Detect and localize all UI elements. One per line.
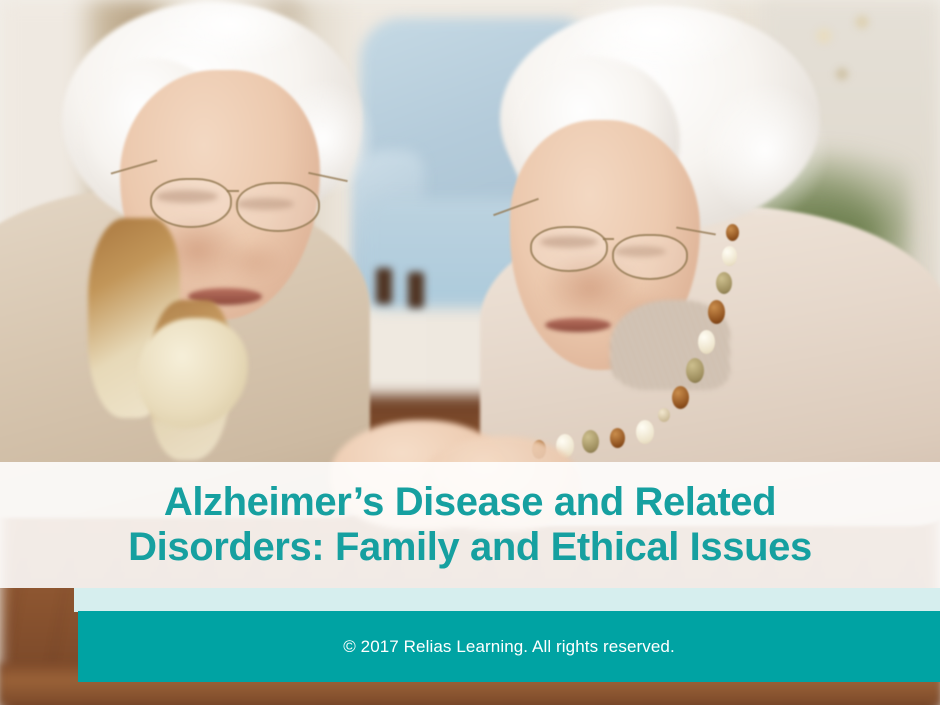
title-slide: Alzheimer’s Disease and Related Disorder… [0, 0, 940, 705]
cyan-accent-strip [74, 588, 940, 612]
necklace-bead [610, 428, 625, 448]
right-woman-glasses-lens [612, 234, 688, 280]
right-woman-glasses-bridge [603, 238, 614, 240]
necklace-bead [658, 408, 670, 422]
necklace-bead [582, 430, 599, 453]
page-title-line-2: Disorders: Family and Ethical Issues [128, 525, 812, 570]
title-band: Alzheimer’s Disease and Related Disorder… [0, 462, 940, 588]
necklace-bead [726, 224, 739, 241]
page-title-line-1: Alzheimer’s Disease and Related [164, 480, 776, 525]
footer-band: © 2017 Relias Learning. All rights reser… [78, 611, 940, 682]
blue-armchair-leg [376, 268, 392, 304]
necklace-bead [698, 330, 715, 354]
left-woman-jaw-shadow [218, 238, 288, 284]
right-woman-mouth [545, 318, 611, 332]
necklace-bead [722, 246, 737, 266]
left-woman-glasses-lens [236, 182, 320, 232]
necklace-bead [672, 386, 689, 409]
right-woman-hair-wisp [700, 80, 830, 220]
necklace-bead [708, 300, 725, 324]
copyright-text: © 2017 Relias Learning. All rights reser… [343, 637, 675, 657]
necklace-bead [716, 272, 732, 294]
right-woman-glasses-lens [530, 226, 608, 272]
left-woman-glasses-bridge [227, 190, 239, 192]
blue-armchair-leg [408, 272, 424, 308]
left-woman-glasses-lens [150, 178, 232, 228]
necklace-bead [636, 420, 654, 444]
necklace-bead [686, 358, 704, 383]
